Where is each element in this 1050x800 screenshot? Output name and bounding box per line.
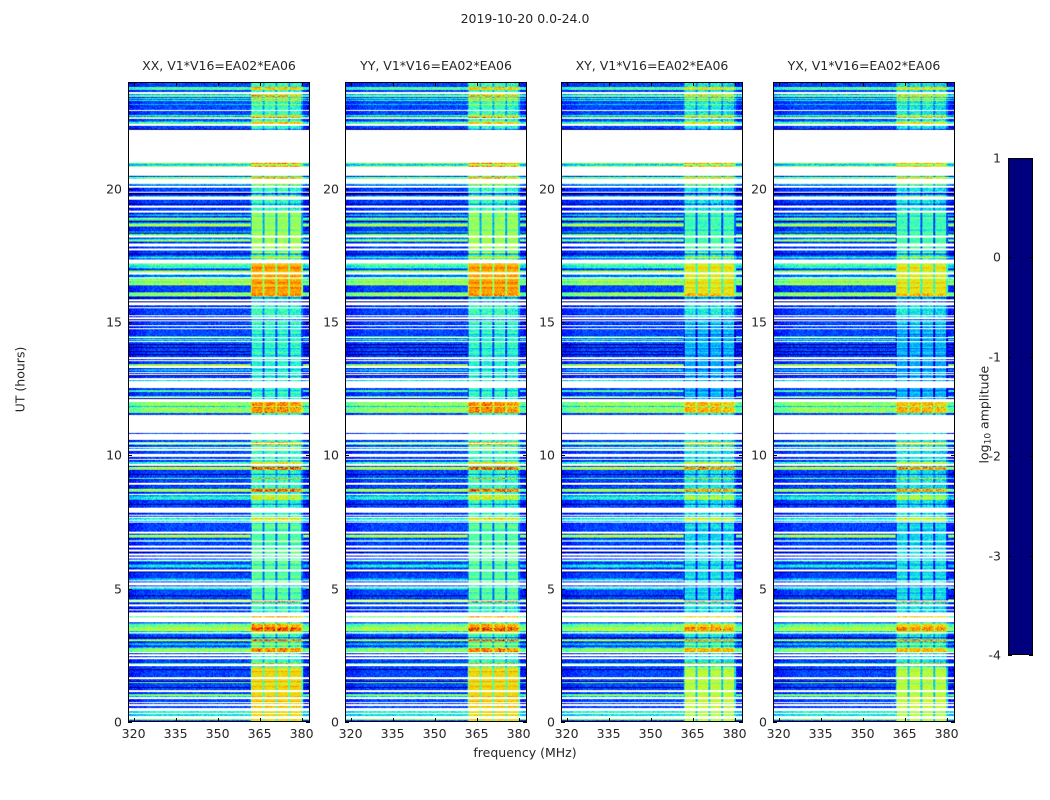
x-tick-label: 335 [381, 726, 405, 741]
y-tick-label: 15 [527, 315, 555, 330]
x-tick-label: 335 [597, 726, 621, 741]
y-tick-mark [951, 322, 955, 323]
x-tick-mark [947, 718, 948, 722]
x-tick-mark [609, 718, 610, 722]
x-tick-mark [567, 82, 568, 86]
x-tick-mark [134, 718, 135, 722]
y-tick-mark [951, 189, 955, 190]
y-tick-mark [345, 322, 349, 323]
x-tick-mark [218, 718, 219, 722]
x-tick-mark [435, 718, 436, 722]
x-tick-label: 380 [935, 726, 959, 741]
y-tick-mark [306, 589, 310, 590]
x-tick-label: 320 [339, 726, 363, 741]
x-tick-mark [693, 718, 694, 722]
y-tick-mark [128, 189, 132, 190]
colorbar-tick-label: 1 [968, 151, 1001, 166]
y-tick-mark [951, 455, 955, 456]
x-tick-mark [863, 718, 864, 722]
y-tick-mark [561, 189, 565, 190]
y-tick-label: 10 [311, 448, 339, 463]
y-tick-label: 10 [94, 448, 122, 463]
x-tick-label: 350 [639, 726, 663, 741]
x-tick-mark [519, 718, 520, 722]
colorbar-label-prefix: log [976, 444, 991, 463]
x-tick-mark [134, 82, 135, 86]
x-tick-mark [218, 82, 219, 86]
colorbar-tick-mark [1008, 556, 1012, 557]
y-tick-mark [128, 722, 132, 723]
x-tick-mark [260, 718, 261, 722]
x-tick-mark [260, 82, 261, 86]
y-tick-mark [128, 455, 132, 456]
colorbar[interactable] [1008, 158, 1033, 655]
y-tick-label: 15 [311, 315, 339, 330]
y-tick-mark [345, 722, 349, 723]
x-tick-label: 335 [809, 726, 833, 741]
spectrogram-image-xy [562, 83, 742, 721]
x-tick-mark [176, 82, 177, 86]
x-tick-mark [779, 718, 780, 722]
colorbar-tick-mark [1029, 556, 1033, 557]
x-tick-label: 320 [555, 726, 579, 741]
colorbar-gradient [1009, 159, 1032, 654]
y-tick-label: 5 [311, 581, 339, 596]
y-tick-mark [306, 455, 310, 456]
y-tick-label: 5 [527, 581, 555, 596]
x-tick-mark [821, 82, 822, 86]
y-tick-mark [345, 589, 349, 590]
y-tick-mark [306, 189, 310, 190]
figure-suptitle: 2019-10-20 0.0-24.0 [0, 11, 1050, 26]
figure-canvas: 2019-10-20 0.0-24.0 XX, V1*V16=EA02*EA06… [0, 0, 1050, 800]
x-tick-mark [176, 718, 177, 722]
y-tick-label: 10 [527, 448, 555, 463]
x-tick-mark [609, 82, 610, 86]
colorbar-tick-mark [1029, 357, 1033, 358]
x-tick-mark [393, 82, 394, 86]
y-tick-label: 20 [739, 181, 767, 196]
colorbar-tick-mark [1008, 158, 1012, 159]
y-tick-label: 0 [527, 715, 555, 730]
x-tick-mark [821, 718, 822, 722]
x-tick-mark [735, 718, 736, 722]
y-tick-mark [128, 589, 132, 590]
panel-title-xx: XX, V1*V16=EA02*EA06 [128, 58, 310, 73]
colorbar-tick-mark [1008, 655, 1012, 656]
colorbar-tick-mark [1029, 158, 1033, 159]
x-tick-label: 365 [465, 726, 489, 741]
x-tick-label: 350 [423, 726, 447, 741]
colorbar-tick-mark [1029, 456, 1033, 457]
x-tick-mark [863, 82, 864, 86]
x-tick-mark [567, 718, 568, 722]
x-tick-mark [302, 82, 303, 86]
y-tick-mark [951, 589, 955, 590]
x-tick-mark [477, 82, 478, 86]
x-tick-label: 320 [767, 726, 791, 741]
x-tick-mark [905, 718, 906, 722]
spectrogram-panel-xy[interactable] [561, 82, 743, 722]
colorbar-tick-mark [1008, 357, 1012, 358]
x-tick-mark [947, 82, 948, 86]
y-axis-label: UT (hours) [13, 300, 28, 460]
spectrogram-panel-xx[interactable] [128, 82, 310, 722]
y-tick-label: 0 [311, 715, 339, 730]
x-tick-mark [651, 82, 652, 86]
panel-title-yx: YX, V1*V16=EA02*EA06 [773, 58, 955, 73]
colorbar-tick-mark [1029, 655, 1033, 656]
y-tick-label: 20 [94, 181, 122, 196]
x-tick-label: 380 [290, 726, 314, 741]
colorbar-tick-mark [1008, 456, 1012, 457]
colorbar-label-sub: 10 [984, 433, 994, 444]
y-tick-label: 10 [739, 448, 767, 463]
y-tick-mark [306, 322, 310, 323]
x-tick-mark [779, 82, 780, 86]
colorbar-label-suffix: amplitude [976, 366, 991, 433]
y-tick-label: 0 [94, 715, 122, 730]
x-tick-mark [351, 82, 352, 86]
y-tick-mark [773, 455, 777, 456]
x-tick-mark [519, 82, 520, 86]
y-tick-mark [773, 589, 777, 590]
colorbar-tick-label: -3 [968, 548, 1001, 563]
y-tick-mark [345, 189, 349, 190]
x-tick-mark [905, 82, 906, 86]
colorbar-tick-mark [1008, 257, 1012, 258]
x-tick-mark [651, 718, 652, 722]
y-tick-label: 5 [94, 581, 122, 596]
y-tick-mark [773, 722, 777, 723]
x-tick-mark [735, 82, 736, 86]
panel-title-xy: XY, V1*V16=EA02*EA06 [561, 58, 743, 73]
y-tick-label: 15 [94, 315, 122, 330]
spectrogram-image-yy [346, 83, 526, 721]
y-tick-mark [561, 455, 565, 456]
colorbar-tick-mark [1029, 257, 1033, 258]
x-tick-mark [477, 718, 478, 722]
y-tick-mark [306, 722, 310, 723]
x-tick-mark [693, 82, 694, 86]
x-tick-label: 365 [681, 726, 705, 741]
x-tick-mark [351, 718, 352, 722]
y-tick-mark [561, 589, 565, 590]
y-tick-mark [561, 722, 565, 723]
x-tick-mark [393, 718, 394, 722]
y-tick-mark [773, 189, 777, 190]
y-tick-mark [561, 322, 565, 323]
y-tick-mark [128, 322, 132, 323]
x-tick-mark [435, 82, 436, 86]
x-tick-label: 365 [248, 726, 272, 741]
y-tick-mark [951, 722, 955, 723]
spectrogram-image-xx [129, 83, 309, 721]
x-tick-mark [302, 718, 303, 722]
spectrogram-panel-yx[interactable] [773, 82, 955, 722]
y-tick-label: 20 [311, 181, 339, 196]
colorbar-tick-label: 0 [968, 250, 1001, 265]
panel-title-yy: YY, V1*V16=EA02*EA06 [345, 58, 527, 73]
colorbar-tick-label: -4 [968, 648, 1001, 663]
y-tick-label: 5 [739, 581, 767, 596]
y-tick-mark [773, 322, 777, 323]
x-axis-label: frequency (MHz) [0, 745, 1050, 760]
x-tick-label: 365 [893, 726, 917, 741]
x-tick-label: 350 [851, 726, 875, 741]
spectrogram-image-yx [774, 83, 954, 721]
x-tick-label: 335 [164, 726, 188, 741]
x-tick-label: 320 [122, 726, 146, 741]
colorbar-label: log10 amplitude [976, 335, 993, 495]
y-tick-label: 15 [739, 315, 767, 330]
x-tick-label: 350 [206, 726, 230, 741]
y-tick-label: 0 [739, 715, 767, 730]
spectrogram-panel-yy[interactable] [345, 82, 527, 722]
y-tick-mark [345, 455, 349, 456]
y-tick-label: 20 [527, 181, 555, 196]
